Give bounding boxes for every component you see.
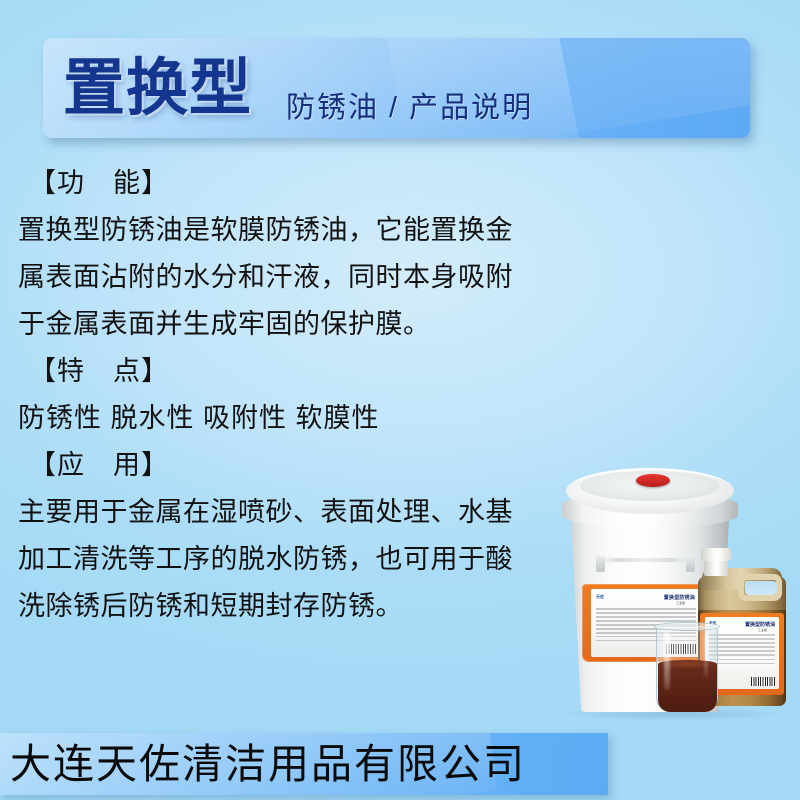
- bucket-label-brand: 天佐: [596, 594, 604, 600]
- section-heading-features: 【特 点】: [0, 348, 570, 395]
- content-body: 【功 能】 置换型防锈油是软膜防锈油，它能置换金 属表面沾附的水分和汗液，同时本…: [0, 160, 570, 630]
- beaker-highlight-left: [664, 632, 670, 690]
- bucket-spout-cap-icon: [636, 474, 670, 487]
- jerrycan-label-text-lines: [709, 634, 775, 667]
- application-line-1: 主要用于金属在湿喷砂、表面处理、水基: [0, 489, 570, 536]
- features-line-1: 防锈性 脱水性 吸附性 软膜性: [0, 395, 570, 442]
- beaker-rim: [654, 622, 720, 631]
- bucket-label-subtitle: 工业级: [676, 601, 685, 605]
- jerrycan-handle-hole: [745, 581, 777, 595]
- jerrycan-cap: [701, 548, 731, 561]
- company-name: 大连天佐清洁用品有限公司: [10, 733, 526, 795]
- page-subtitle: 防锈油 / 产品说明: [286, 84, 533, 126]
- bucket-handle-tab-right: [686, 556, 695, 572]
- jerrycan-label-barcode-icon: [751, 677, 775, 686]
- application-line-3: 洗除锈后防锈和短期封存防锈。: [0, 583, 570, 630]
- function-line-3: 于金属表面并生成牢固的保护膜。: [0, 301, 570, 348]
- product-photo: 天佐 置换型防锈油 工业级 天佐: [550, 440, 800, 735]
- application-line-2: 加工清洗等工序的脱水防锈，也可用于酸: [0, 536, 570, 583]
- beaker-highlight-right: [704, 634, 708, 678]
- function-line-1: 置换型防锈油是软膜防锈油，它能置换金: [0, 207, 570, 254]
- bucket-handle-tab-left: [596, 556, 605, 572]
- page-title: 置换型: [63, 39, 252, 138]
- footer-banner: 大连天佐清洁用品有限公司: [0, 733, 608, 795]
- product-spec-page: 置换型 防锈油 / 产品说明 【功 能】 置换型防锈油是软膜防锈油，它能置换金 …: [0, 0, 800, 800]
- section-heading-function: 【功 能】: [0, 160, 570, 207]
- section-heading-application: 【应 用】: [0, 442, 570, 489]
- jerrycan-label-title: 置换型防锈油: [745, 621, 775, 628]
- bucket-label-title: 置换型防锈油: [664, 594, 695, 601]
- bucket-handle-bar: [600, 558, 690, 562]
- function-line-2: 属表面沾附的水分和汗液，同时本身吸附: [0, 254, 570, 301]
- product-beaker: [656, 620, 718, 712]
- jerrycan-label-subtitle: 工业级: [758, 628, 767, 632]
- header-banner: 置换型 防锈油 / 产品说明: [43, 38, 750, 138]
